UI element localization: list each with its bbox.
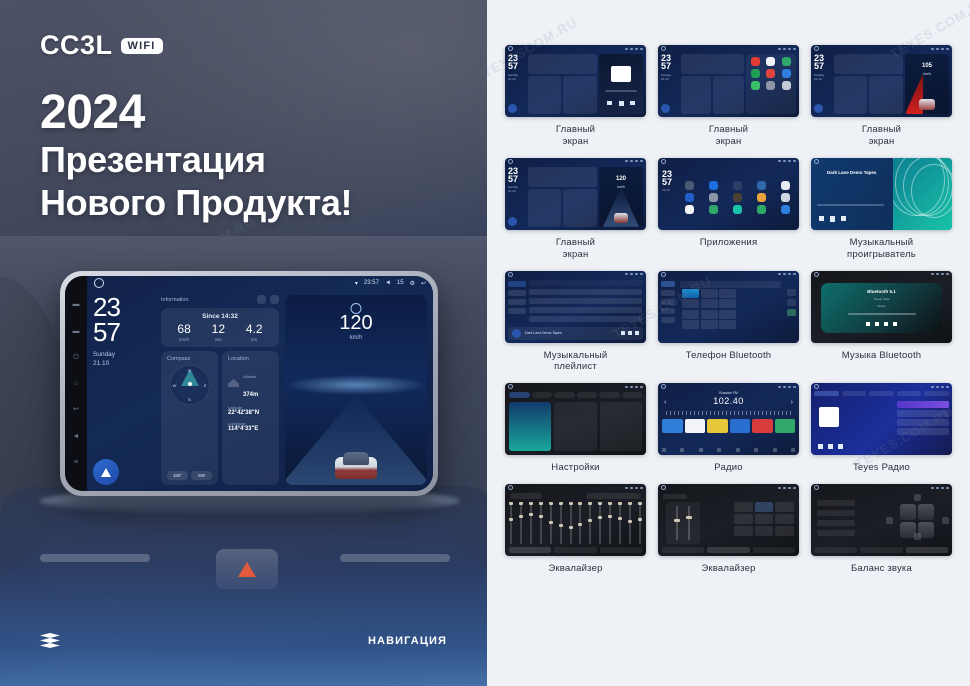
thumb-status-bar [811,383,952,390]
home-dot-icon [508,384,513,389]
clock-day: Sunday [93,350,155,359]
clock-date: 21.10 [93,359,155,368]
altitude-label: Altitude [243,374,256,379]
status-icons [778,487,796,489]
location-altitude-row: Altitude 374m [228,365,273,401]
compass-widget[interactable]: Compass N E S W [161,351,218,485]
thumbnail-equalizer-presets[interactable] [658,484,799,556]
hardware-button-rail[interactable]: ▬ ▬ ⏻ ⌂ ↩ ◄ ≡ [65,276,87,491]
product-logo: CC3L WIFI [40,32,163,59]
menu-icon[interactable]: ≡ [74,459,78,466]
mini-nav-fab [661,104,670,113]
compass-label-n: N [188,368,191,373]
footer-label: НАВИГАЦИЯ [368,635,447,647]
thumb-status-bar [505,158,646,165]
radio-tuner-scale[interactable] [666,411,791,415]
trip-distance-unit: km [246,337,263,342]
playlist-player-bar[interactable]: Dark Lane Demo Tapes [508,327,643,340]
equalizer-tabs[interactable] [509,547,642,553]
compass-label-w: W [173,383,177,388]
gallery-item[interactable]: 2357Sunday21.10 Главный экран [658,45,799,148]
status-icons [931,386,949,388]
mini-home-layout: 2357Sunday21.10 [661,54,796,114]
home-dot-icon [661,384,666,389]
gallery-caption: Музыкальный плейлист [544,350,608,374]
home-dot-icon [814,159,819,164]
air-vent-right [340,554,450,562]
screenshot-gallery: 2357Sunday21.10 Главный экран [487,0,970,686]
compass-title: Compass [167,356,212,362]
balance-up-button[interactable] [914,494,921,501]
compass-label-e: E [204,383,207,388]
thumb-status-bar [658,271,799,278]
trip-speed-value: 68 [177,323,190,335]
thumbnail-home-speed-red[interactable]: 2357Sunday21.10 105 km/h [811,45,952,117]
status-icons [625,487,643,489]
thumb-status-bar [505,271,646,278]
thumb-status-bar [658,383,799,390]
station-list[interactable] [897,401,949,437]
thumb-status-bar [658,158,799,165]
car-window-shape [343,452,369,465]
navigation-fab-button[interactable] [93,459,119,485]
trip-since-label: Since 14:32 [167,313,273,320]
thumbnail-sound-balance[interactable] [811,484,952,556]
compass-label-s: S [188,397,191,402]
air-vent-left [40,554,150,562]
mini-nav-fab [508,104,517,113]
compass-readouts: 180° SW [167,471,212,480]
prev-icon[interactable] [866,322,870,326]
gallery-caption: Музыка Bluetooth [842,350,922,362]
mini-widgets [681,54,744,114]
head-unit-bezel: ▬ ▬ ⏻ ⌂ ↩ ◄ ≡ ▾ 23:57 ◄ 15 [65,276,433,491]
radio-band: Russian FM [658,391,799,395]
gallery-caption: Эквалайзер [548,563,602,575]
location-widget[interactable]: Location Altitude 374m [222,351,279,485]
thumb-status-bar [811,45,952,52]
wifi-card[interactable] [509,402,551,451]
horizon-glow [285,375,427,395]
music-visualizer [893,158,952,230]
balance-left-button[interactable] [886,517,893,524]
status-icons [625,273,643,275]
home-dot-icon [508,46,513,51]
mute-icon[interactable]: ◄ [73,433,80,440]
thumbnail-equalizer-bands[interactable] [505,484,646,556]
head-unit-screen[interactable]: ▾ 23:57 ◄ 15 ⚙ ↩ 23 57 Sunday [87,276,433,491]
teyes-player-controls[interactable] [818,444,843,449]
home-dot-icon [661,159,666,164]
thumb-status-bar [505,45,646,52]
home-dot-icon [814,485,819,490]
contacts-icon[interactable] [787,299,796,306]
gallery-item[interactable]: 2357Sunday21.10 Главный экран [505,45,646,148]
thumb-status-bar [505,484,646,491]
gallery-item[interactable]: Russian FM 102.40 ‹ › Радио [658,383,799,474]
next-icon[interactable] [893,322,897,326]
gallery-caption: Радио [714,462,742,474]
trip-stats: 68 km/h 12 min 4.2 km [167,323,273,342]
status-icons [778,386,796,388]
mini-speed-panel: 120 km/h [599,167,643,227]
gallery-caption: Настройки [551,462,599,474]
thumbnail-bluetooth-phone[interactable] [658,271,799,343]
altitude-value: 374m [243,392,258,398]
call-icon[interactable] [787,309,796,316]
album-art [512,329,521,338]
gallery-item[interactable]: 2357Sunday21.10 120 km/h Главный экран [505,158,646,261]
radio-toolbar[interactable] [662,448,795,452]
status-icons [931,487,949,489]
equalizer-tabs[interactable] [662,547,795,553]
phone-sidebar[interactable] [661,281,675,331]
thumbnail-teyes-radio[interactable] [811,383,952,455]
phone-actions[interactable] [787,289,796,316]
gallery-item[interactable]: Эквалайзер [505,484,646,575]
stop-icon[interactable] [828,444,833,449]
wifi-badge: WIFI [121,38,163,54]
thumbnail-playlist[interactable]: Dark Lane Demo Tapes [505,271,646,343]
information-actions[interactable] [257,295,279,304]
gallery-item[interactable]: Teyes Радио [811,383,952,474]
mini-home-layout: 2357Sunday21.10 120 km/h [508,167,643,227]
mini-home-layout: 2357Sunday21.10 105 km/h [814,54,949,114]
thumbnail-home-apps[interactable]: 2357Sunday21.10 [658,45,799,117]
home-dot-icon [508,159,513,164]
status-bar-right: ▾ 23:57 ◄ 15 ⚙ ↩ [355,280,426,287]
gallery-caption: Эквалайзер [701,563,755,575]
gallery-item[interactable]: Настройки [505,383,646,474]
head-unit-device: ▬ ▬ ⏻ ⌂ ↩ ◄ ≡ ▾ 23:57 ◄ 15 [60,271,438,496]
back-icon[interactable]: ↩ [73,406,79,413]
thumbnail-settings[interactable] [505,383,646,455]
compass-needle-icon [188,382,192,386]
playlist-sidebar[interactable] [508,281,526,331]
balance-presets[interactable] [817,500,855,544]
hero-heading: 2024 Презентация Нового Продукта! [40,88,352,223]
lower-widgets-row: Compass N E S W [161,351,279,485]
gallery-item[interactable]: Эквалайзер [658,484,799,575]
status-clock: 23:57 [364,280,379,286]
status-bar: ▾ 23:57 ◄ 15 ⚙ ↩ [87,276,433,290]
layers-icon [40,633,60,649]
mini-clock: 235721.10 [662,170,679,193]
thumb-status-bar [658,45,799,52]
gain-sliders[interactable] [666,502,700,544]
volume-indicator: ◄ [385,280,391,286]
trip-distance-value: 4.2 [246,323,263,335]
gallery-caption: Баланс звука [851,563,912,575]
hero-footer: НАВИГАЦИЯ [0,630,487,652]
gallery-caption: Teyes Радио [853,462,910,474]
logo-text: CC3L [40,32,113,59]
bluetooth-track: Toosie Slide [873,297,889,301]
gallery-caption: Главный экран [862,124,901,148]
clock-minutes: 57 [93,320,155,345]
clock-widget[interactable]: 23 57 Sunday 21.10 [93,295,155,485]
trip-stat-speed: 68 km/h [177,323,190,342]
thumb-status-bar [811,484,952,491]
refresh-icon[interactable] [257,295,266,304]
latitude-value: 22°42'38"N [228,410,273,418]
gallery-caption: Главный экран [709,124,748,148]
status-icons [625,48,643,50]
gallery-caption: Музыкальный проигрыватель [847,237,916,261]
thumbnail-radio[interactable]: Russian FM 102.40 ‹ › [658,383,799,455]
wifi-icon: ▾ [355,280,358,287]
presentation-slide: CC3L WIFI 2024 Презентация Нового Продук… [0,0,970,686]
favorite-icon[interactable] [787,289,796,296]
speed-unit: km/h [285,335,427,341]
gallery-caption: Телефон Bluetooth [686,350,772,362]
hero-panel: CC3L WIFI 2024 Презентация Нового Продук… [0,0,487,686]
hero-headline-2: Нового Продукта! [40,183,352,223]
teyes-tabs[interactable] [814,391,949,396]
home-dot-icon [508,272,513,277]
mini-speed-value: 120 [599,176,643,182]
home-dot-icon [661,272,666,277]
gallery-item[interactable]: Телефон Bluetooth [658,271,799,374]
more-card[interactable] [600,402,642,451]
gallery-item[interactable]: Баланс звука [811,484,952,575]
prev-station-icon[interactable]: ‹ [664,399,666,406]
dialpad[interactable] [682,289,736,330]
trip-stat-distance: 4.2 km [246,323,263,342]
hero-year: 2024 [40,88,352,138]
hazard-triangle-icon [238,562,256,577]
radio-presets[interactable] [662,419,795,433]
gallery-grid: 2357Sunday21.10 Главный экран [505,45,952,575]
thumbnail-music-player[interactable]: Dark Lane Demo Tapes [811,158,952,230]
thumb-status-bar [505,383,646,390]
compass-direction: SW [191,471,212,480]
mini-nav-fab [508,217,517,226]
hero-headline-1: Презентация [40,140,352,180]
balance-right-button[interactable] [942,517,949,524]
longitude-value: 114°4'33"E [228,426,273,434]
volume-down-icon[interactable]: ▬ [73,301,80,308]
compass-heading: 180° [167,471,188,480]
volume-up-icon[interactable]: ▬ [73,328,80,335]
speed-value: 120 [285,313,427,333]
gallery-caption: Приложения [700,237,758,249]
home-indicator-icon[interactable] [94,278,104,288]
screen-body: 23 57 Sunday 21.10 Information [87,290,433,491]
radio-frequency: 102.40 [658,396,799,406]
trip-speed-unit: km/h [177,337,190,342]
balance-tabs[interactable] [815,547,948,553]
home-dot-icon [814,384,819,389]
balance-down-button[interactable] [914,533,921,540]
home-dot-icon [661,485,666,490]
track-title: Dark Lane Demo Tapes [827,170,876,175]
settings-icon[interactable]: ⚙ [410,280,415,287]
gallery-item[interactable]: 2357Sunday21.10 105 km/h Главный экран [811,45,952,148]
home-dot-icon [508,485,513,490]
thumb-status-bar [811,271,952,278]
gallery-caption: Главный экран [556,237,595,261]
next-icon[interactable] [841,216,846,221]
mini-widgets [528,167,597,227]
preset-buttons[interactable] [734,502,794,536]
hazard-light-button[interactable] [216,549,278,589]
status-icons [625,386,643,388]
gallery-item[interactable]: Dark Lane Demo Tapes Музыкальный плейлис… [505,271,646,374]
trip-time-value: 12 [212,323,225,335]
status-icons [778,160,796,162]
expand-icon[interactable] [270,295,279,304]
thumbnail-home-media[interactable]: 2357Sunday21.10 [505,45,646,117]
home-dot-icon [661,46,666,51]
home-dot-icon [814,46,819,51]
station-artwork [819,407,839,427]
home-icon[interactable]: ⌂ [74,380,78,387]
gallery-item[interactable]: 235721.10 Приложения [658,158,799,261]
thumb-status-bar [658,484,799,491]
gallery-item[interactable]: Dark Lane Demo Tapes Музыкальный проигры… [811,158,952,261]
mini-speed-value: 105 [905,63,949,69]
settings-cards[interactable] [509,402,642,451]
navigation-arrow-icon [101,468,111,477]
mini-home-layout: 2357Sunday21.10 [508,54,643,114]
bluetooth-title: Bluetooth 5.1 [867,289,896,294]
location-latitude: Latitude 22°42'38"N [228,405,273,418]
volume-level: 15 [397,280,404,286]
app-grid[interactable] [679,169,795,226]
widgets-column: Information Since 14:32 6 [161,295,279,485]
status-icons [778,273,796,275]
mini-nav-fab [814,104,823,113]
equalizer-sliders[interactable] [510,502,641,544]
mountain-icon [228,379,239,387]
mini-media-panel [599,54,643,114]
thumbnail-home-speed[interactable]: 2357Sunday21.10 120 km/h [505,158,646,230]
settings-tabs[interactable] [509,392,642,398]
status-icons [625,160,643,162]
gallery-caption: Главный экран [556,124,595,148]
prev-icon[interactable] [818,444,823,449]
prev-icon[interactable] [819,216,824,221]
thumbnail-bluetooth-music[interactable]: Bluetooth 5.1 Toosie Slide Drake [811,271,952,343]
home-dot-icon [814,272,819,277]
speed-widget[interactable]: 120 km/h [285,295,427,485]
power-icon[interactable]: ⏻ [73,354,79,361]
information-header: Information [161,295,279,304]
thumbnail-apps[interactable]: 235721.10 [658,158,799,230]
gallery-item[interactable]: Bluetooth 5.1 Toosie Slide Drake Музыка … [811,271,952,374]
trip-stat-time: 12 min [212,323,225,342]
next-icon[interactable] [838,444,843,449]
status-icons [931,48,949,50]
mini-speed-panel: 105 km/h [905,54,949,114]
trip-time-unit: min [212,337,225,342]
stop-icon[interactable] [884,322,888,326]
bluetooth-card: Bluetooth 5.1 Toosie Slide Drake [821,283,942,333]
location-longitude: Longitude 114°4'33"E [228,421,273,434]
status-icons [931,273,949,275]
mini-widgets [834,54,903,114]
location-title: Location [228,356,273,362]
compass-dial: N E S W [170,365,210,405]
mini-app-panel [746,54,796,114]
player-controls[interactable] [819,216,846,222]
back-arrow-icon[interactable]: ↩ [421,280,426,287]
car-3d-model [335,447,377,479]
status-icons [778,48,796,50]
location-altitude: Altitude 374m [243,365,258,401]
storage-card[interactable] [554,402,596,451]
bluetooth-controls[interactable] [866,322,897,326]
trip-information-card[interactable]: Since 14:32 68 km/h 12 min [161,308,279,347]
bluetooth-artist: Drake [877,304,885,308]
play-pause-icon[interactable] [875,322,879,326]
mini-widgets [528,54,597,114]
pause-icon[interactable] [830,216,835,222]
next-station-icon[interactable]: › [791,399,793,406]
information-title: Information [161,297,189,303]
